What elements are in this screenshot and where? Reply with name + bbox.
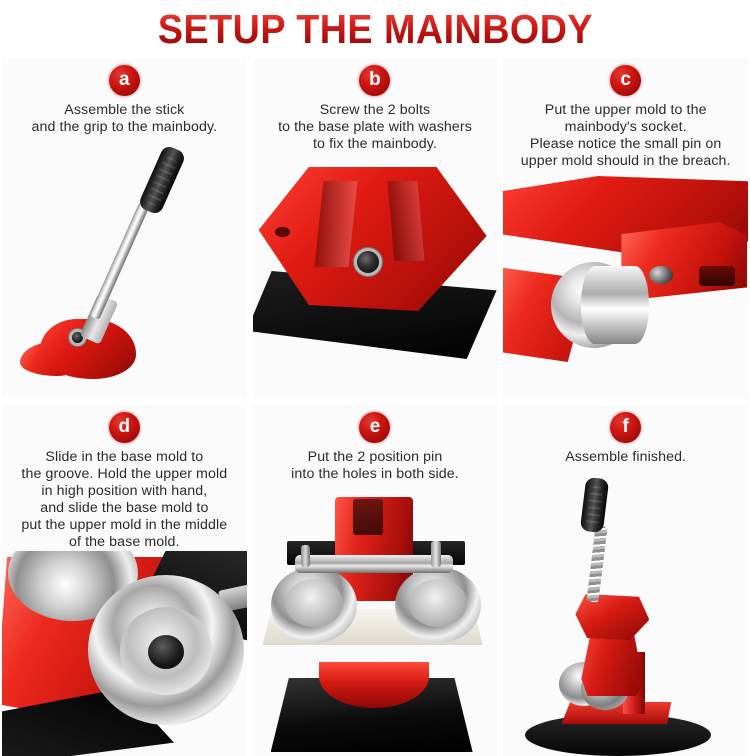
caption-line: and the grip to the mainbody. bbox=[9, 119, 239, 136]
step-photo-c bbox=[503, 170, 748, 399]
step-photo-a bbox=[2, 136, 247, 399]
step-caption-b: Screw the 2 bolts to the base plate with… bbox=[260, 102, 490, 153]
black-grip bbox=[580, 477, 609, 533]
caption-line: to fix the mainbody. bbox=[260, 136, 490, 153]
caption-line: put the upper mold in the middle bbox=[9, 517, 239, 534]
step-badge-b: b bbox=[359, 65, 390, 96]
column-shadow bbox=[353, 499, 383, 535]
step-badge-letter: f bbox=[622, 417, 628, 436]
step-photo-b bbox=[253, 153, 498, 399]
steps-grid: a Assemble the stick and the grip to the… bbox=[0, 58, 750, 750]
bolt-hole bbox=[275, 227, 290, 237]
step-panel-b: b Screw the 2 bolts to the base plate wi… bbox=[253, 58, 498, 399]
mold-cup-left-inner bbox=[285, 579, 343, 627]
step-badge-letter: a bbox=[119, 70, 130, 89]
step-caption-e: Put the 2 position pin into the holes in… bbox=[260, 449, 490, 483]
caption-line: Assemble finished. bbox=[511, 449, 741, 466]
step-photo-e bbox=[253, 483, 498, 756]
caption-line: Screw the 2 bolts bbox=[260, 102, 490, 119]
page-title: SETUP THE MAINBODY bbox=[157, 9, 592, 50]
caption-line: mainbody's socket. bbox=[511, 119, 741, 136]
step-badge-letter: b bbox=[369, 70, 381, 89]
step-panel-e: e Put the 2 position pin into the holes … bbox=[253, 405, 498, 756]
step-panel-f: f Assemble finished. bbox=[503, 405, 748, 756]
step-caption-f: Assemble finished. bbox=[511, 449, 741, 466]
step-panel-a: a Assemble the stick and the grip to the… bbox=[2, 58, 247, 399]
step-photo-d bbox=[2, 551, 247, 756]
caption-line: into the holes in both side. bbox=[260, 466, 490, 483]
mold-cup-right-inner bbox=[409, 579, 467, 627]
step-caption-d: Slide in the base mold to the groove. Ho… bbox=[9, 449, 239, 551]
step-badge-a: a bbox=[109, 65, 140, 96]
body-rib-right bbox=[387, 181, 424, 261]
title-bar: SETUP THE MAINBODY bbox=[0, 0, 750, 58]
step-badge-letter: d bbox=[119, 417, 131, 436]
red-lever-head bbox=[575, 594, 649, 640]
caption-line: Assemble the stick bbox=[9, 102, 239, 119]
step-panel-d: d Slide in the base mold to the groove. … bbox=[2, 405, 247, 756]
base-mold-hub bbox=[148, 635, 184, 669]
caption-line: Slide in the base mold to bbox=[9, 449, 239, 466]
caption-line: of the base mold. bbox=[9, 534, 239, 551]
caption-line: in high position with hand, bbox=[9, 483, 239, 500]
body-rib-left bbox=[314, 181, 357, 267]
step-badge-c: c bbox=[610, 65, 641, 96]
chrome-cross-bar bbox=[295, 555, 453, 573]
step-badge-letter: c bbox=[620, 70, 631, 89]
caption-line: Please notice the small pin on bbox=[511, 136, 741, 153]
chrome-stick bbox=[89, 201, 150, 320]
step-badge-e: e bbox=[359, 412, 390, 443]
step-badge-d: d bbox=[109, 412, 140, 443]
step-badge-f: f bbox=[610, 412, 641, 443]
caption-line: and slide the base mold to bbox=[9, 500, 239, 517]
caption-line: Put the upper mold to the bbox=[511, 102, 741, 119]
step-caption-c: Put the upper mold to the mainbody's soc… bbox=[511, 102, 741, 170]
step-caption-a: Assemble the stick and the grip to the m… bbox=[9, 102, 239, 136]
caption-line: the groove. Hold the upper mold bbox=[9, 466, 239, 483]
position-pin-right bbox=[431, 541, 441, 567]
step-panel-c: c Put the upper mold to the mainbody's s… bbox=[503, 58, 748, 399]
caption-line: upper mold should in the breach. bbox=[511, 153, 741, 170]
caption-line: Put the 2 position pin bbox=[260, 449, 490, 466]
step-photo-f bbox=[503, 466, 748, 756]
caption-line: to the base plate with washers bbox=[260, 119, 490, 136]
upper-mold-barrel bbox=[581, 266, 649, 344]
socket-breach bbox=[699, 266, 735, 286]
black-grip bbox=[137, 144, 187, 216]
chrome-stick bbox=[587, 526, 608, 603]
bolt-with-washer bbox=[357, 251, 379, 273]
step-badge-letter: e bbox=[370, 417, 381, 436]
position-pin-left bbox=[301, 545, 310, 567]
